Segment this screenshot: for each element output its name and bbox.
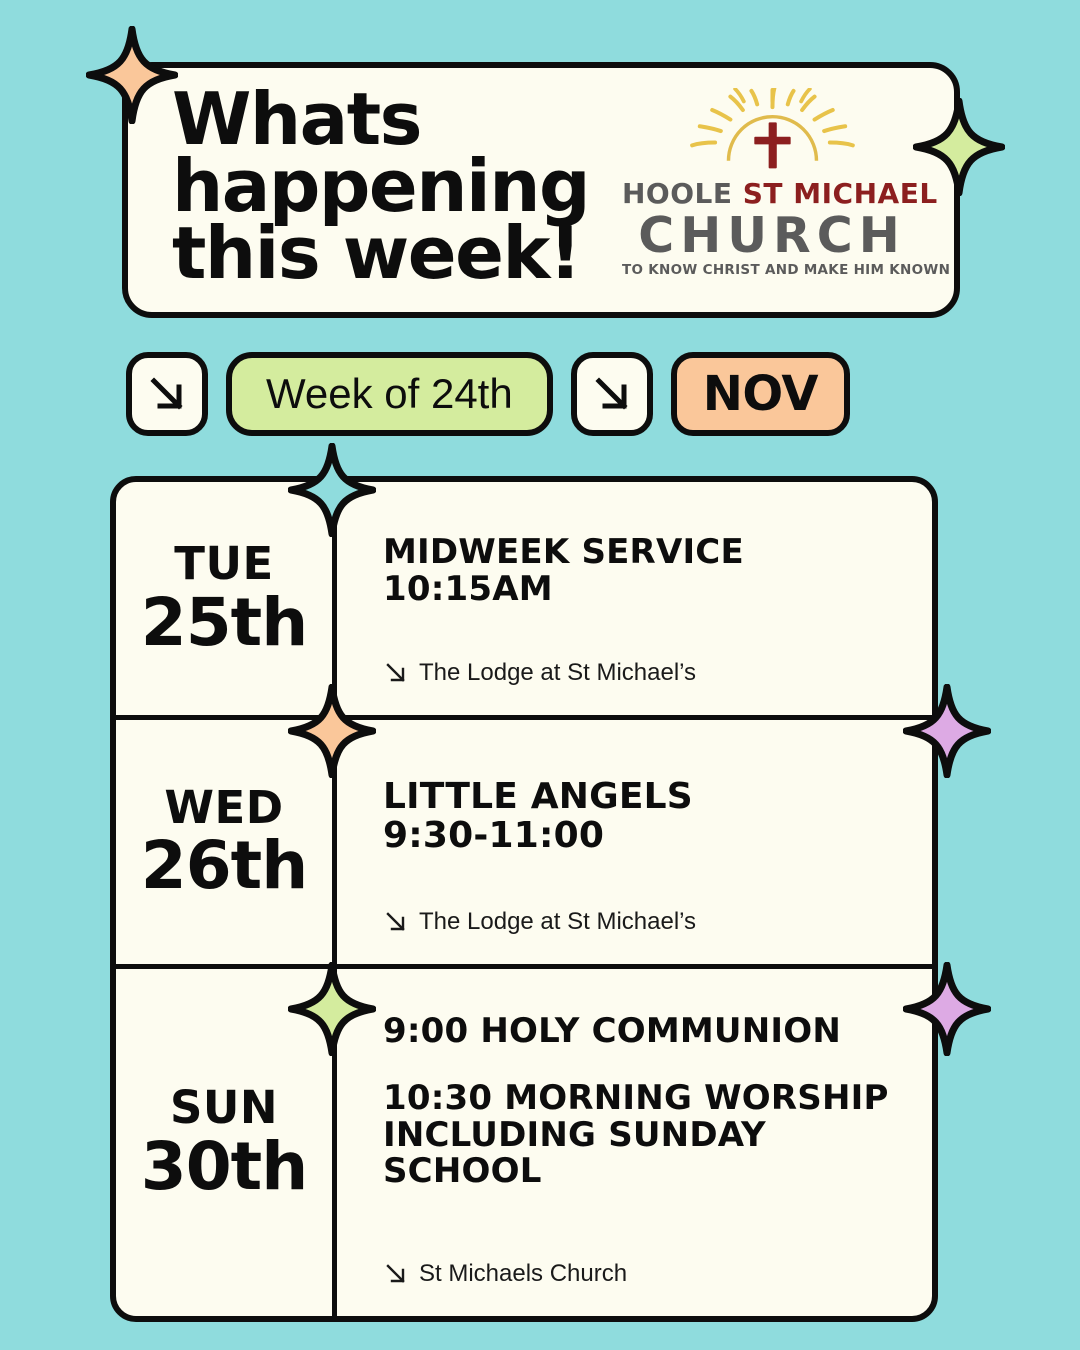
event-detail-cell: LITTLE ANGELS 9:30-11:00 The Lodge at St… bbox=[337, 720, 932, 964]
sun-cross-logo-icon bbox=[629, 88, 916, 176]
event-title: 9:00 HOLY COMMUNION bbox=[383, 1013, 902, 1050]
day-name: SUN bbox=[170, 1084, 278, 1131]
week-pill[interactable]: Week of 24th bbox=[226, 352, 553, 436]
logo-st-text: ST bbox=[743, 177, 783, 210]
month-label: NOV bbox=[703, 366, 818, 422]
location-text: The Lodge at St Michael’s bbox=[419, 659, 696, 687]
event-block: LITTLE ANGELS 9:30-11:00 bbox=[383, 778, 902, 856]
schedule-table: TUE 25th MIDWEEK SERVICE 10:15AM The Lod… bbox=[110, 476, 938, 1322]
logo-tagline: TO KNOW CHRIST AND MAKE HIM KNOWN bbox=[622, 262, 922, 278]
table-row: TUE 25th MIDWEEK SERVICE 10:15AM The Lod… bbox=[116, 482, 932, 720]
arrow-down-right-icon bbox=[591, 373, 633, 415]
week-label: Week of 24th bbox=[266, 370, 513, 418]
arrow-down-right-icon bbox=[383, 909, 409, 935]
logo-michael-text: MICHAEL bbox=[783, 177, 938, 210]
day-name: WED bbox=[164, 784, 283, 831]
day-cell: TUE 25th bbox=[116, 482, 337, 715]
arrow-down-right-icon bbox=[383, 1261, 409, 1287]
church-logo: HOOLE ST MICHAEL CHURCH TO KNOW CHRIST A… bbox=[622, 88, 922, 278]
arrow-down-right-icon bbox=[383, 660, 409, 686]
page-title: Whats happening this week! bbox=[172, 86, 589, 287]
arrow-badge-left[interactable] bbox=[126, 352, 208, 436]
event-block: MIDWEEK SERVICE 10:15AM bbox=[383, 534, 902, 607]
event-title: MIDWEEK SERVICE 10:15AM bbox=[383, 534, 902, 607]
date-bar: Week of 24th NOV bbox=[126, 352, 850, 436]
day-number: 25th bbox=[141, 588, 307, 657]
logo-name-line: HOOLE ST MICHAEL bbox=[622, 177, 922, 210]
event-block: 9:00 HOLY COMMUNION bbox=[383, 1013, 902, 1050]
event-detail-cell: MIDWEEK SERVICE 10:15AM The Lodge at St … bbox=[337, 482, 932, 715]
table-row: SUN 30th 9:00 HOLY COMMUNION 10:30 MORNI… bbox=[116, 969, 932, 1316]
logo-church-text: CHURCH bbox=[622, 211, 922, 260]
location-text: The Lodge at St Michael’s bbox=[419, 908, 696, 936]
day-number: 26th bbox=[141, 831, 307, 900]
event-block: 10:30 MORNING WORSHIP INCLUDING SUNDAY S… bbox=[383, 1080, 902, 1190]
header-card: Whats happening this week! bbox=[122, 62, 960, 318]
logo-hoole-text: HOOLE bbox=[622, 177, 743, 210]
event-detail-cell: 9:00 HOLY COMMUNION 10:30 MORNING WORSHI… bbox=[337, 969, 932, 1316]
event-location: St Michaels Church bbox=[383, 1260, 902, 1288]
event-location: The Lodge at St Michael’s bbox=[383, 659, 902, 687]
event-title: 10:30 MORNING WORSHIP INCLUDING SUNDAY S… bbox=[383, 1080, 902, 1190]
month-pill[interactable]: NOV bbox=[671, 352, 850, 436]
poster-root: Whats happening this week! bbox=[0, 0, 1080, 1350]
day-cell: WED 26th bbox=[116, 720, 337, 964]
day-name: TUE bbox=[174, 540, 273, 587]
location-text: St Michaels Church bbox=[419, 1260, 627, 1288]
event-location: The Lodge at St Michael’s bbox=[383, 908, 902, 936]
table-row: WED 26th LITTLE ANGELS 9:30-11:00 The Lo… bbox=[116, 720, 932, 969]
event-title: LITTLE ANGELS 9:30-11:00 bbox=[383, 778, 902, 856]
arrow-down-right-icon bbox=[146, 373, 188, 415]
day-number: 30th bbox=[141, 1132, 307, 1201]
arrow-badge-right[interactable] bbox=[571, 352, 653, 436]
day-cell: SUN 30th bbox=[116, 969, 337, 1316]
